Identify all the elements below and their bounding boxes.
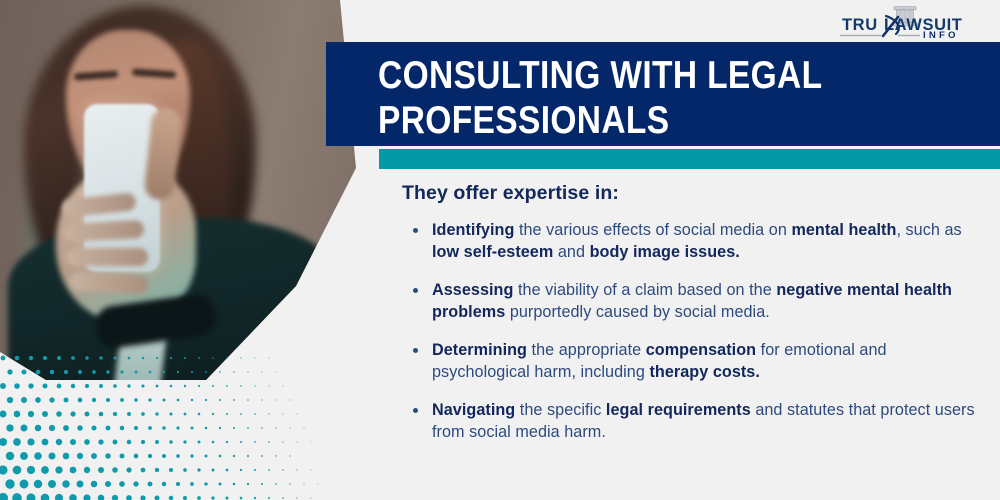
halftone-dot: [296, 441, 297, 442]
halftone-dot: [21, 425, 28, 432]
halftone-dot: [69, 494, 77, 500]
halftone-dot: [155, 412, 158, 415]
halftone-dot: [162, 454, 166, 458]
halftone-dot: [134, 398, 138, 402]
halftone-dot: [162, 482, 166, 486]
halftone-dot: [261, 427, 263, 429]
halftone-dot: [112, 467, 118, 473]
halftone-dot: [240, 413, 242, 415]
halftone-dot: [98, 495, 105, 500]
halftone-dot: [48, 480, 56, 488]
halftone-dot: [41, 494, 50, 500]
halftone-dot: [247, 371, 248, 372]
halftone-dot: [126, 467, 131, 472]
halftone-dot: [261, 399, 262, 400]
halftone-dot: [57, 384, 62, 389]
halftone-dot: [127, 384, 130, 387]
halftone-dot: [127, 412, 131, 416]
halftone-dot: [120, 398, 124, 402]
halftone-dot: [0, 411, 7, 418]
halftone-dot: [22, 370, 27, 375]
halftone-dot: [12, 493, 22, 500]
halftone-dot: [211, 496, 214, 499]
halftone-dot: [275, 427, 276, 428]
halftone-dot: [85, 384, 89, 388]
halftone-dot: [311, 442, 312, 443]
halftone-dot: [240, 357, 241, 358]
halftone-dot: [141, 440, 145, 444]
halftone-dot: [289, 455, 290, 456]
halftone-dot: [14, 383, 20, 389]
halftone-dot: [56, 411, 62, 417]
halftone-dot: [64, 398, 69, 403]
halftone-dot: [191, 399, 193, 401]
halftone-dot: [212, 413, 214, 415]
halftone-dot: [205, 399, 207, 401]
halftone-dot: [85, 412, 90, 417]
halftone-dot: [212, 469, 215, 472]
halftone-dot: [63, 425, 69, 431]
halftone-dot: [212, 441, 215, 444]
halftone-dot: [28, 411, 34, 417]
halftone-dot: [170, 385, 173, 388]
halftone-dot: [99, 384, 103, 388]
logo-word-info: INFO: [923, 30, 959, 41]
halftone-dot: [91, 481, 98, 488]
halftone-dot: [212, 385, 214, 387]
halftone-dot: [70, 467, 77, 474]
halftone-dot: [77, 453, 83, 459]
halftone-dot: [169, 496, 174, 500]
halftone-dot: [275, 455, 276, 456]
halftone-dot: [303, 483, 304, 484]
halftone-dot: [197, 468, 200, 471]
halftone-dot: [247, 399, 249, 401]
halftone-dot: [261, 455, 263, 457]
halftone-dot: [289, 427, 290, 428]
halftone-dot: [169, 440, 173, 444]
halftone-dot: [247, 427, 249, 429]
halftone-dot: [219, 399, 221, 401]
halftone-dot: [84, 467, 90, 473]
expertise-bullet-list: Identifying the various effects of socia…: [402, 220, 977, 443]
halftone-dot: [226, 497, 229, 500]
halftone-dot: [7, 369, 12, 374]
halftone-dot: [198, 413, 201, 416]
halftone-dot: [113, 440, 118, 445]
bullet-item-determining: Determining the appropriate compensation…: [402, 340, 977, 383]
halftone-dot: [169, 412, 172, 415]
halftone-dot: [6, 452, 14, 460]
halftone-dot: [141, 468, 146, 473]
halftone-dot: [14, 411, 21, 418]
halftone-dot: [34, 452, 42, 460]
halftone-dot: [254, 497, 256, 499]
halftone-dot: [205, 455, 208, 458]
halftone-dot: [169, 468, 173, 472]
halftone-dot: [5, 479, 14, 488]
halftone-dot: [304, 428, 305, 429]
halftone-dot: [155, 468, 159, 472]
halftone-dot: [148, 398, 151, 401]
halftone-dot: [1, 356, 6, 361]
halftone-dot: [177, 399, 180, 402]
halftone-dot: [27, 466, 35, 474]
halftone-dot: [254, 413, 256, 415]
halftone-dot: [21, 397, 27, 403]
halftone-dot: [318, 484, 319, 485]
halftone-dot: [13, 466, 22, 475]
halftone-dot: [42, 383, 47, 388]
halftone-dot: [13, 438, 21, 446]
photo-background: [0, 0, 360, 390]
halftone-dot: [84, 439, 90, 445]
halftone-dot: [20, 480, 29, 489]
halftone-dot: [190, 454, 193, 457]
halftone-dot: [55, 494, 63, 500]
halftone-dot: [134, 426, 138, 430]
halftone-dot: [49, 425, 55, 431]
halftone-dot: [0, 493, 8, 500]
halftone-dot: [219, 371, 221, 373]
halftone-dot: [106, 398, 110, 402]
halftone-dot: [296, 497, 297, 498]
halftone-dot: [105, 481, 111, 487]
halftone-dot: [233, 427, 235, 429]
halftone-dot: [6, 424, 13, 431]
halftone-dot: [247, 483, 249, 485]
halftone-dot: [0, 465, 8, 474]
halftone-dot: [191, 427, 194, 430]
halftone-dot: [20, 452, 28, 460]
halftone-dot: [183, 440, 186, 443]
halftone-dot: [41, 466, 49, 474]
halftone-dot: [148, 454, 152, 458]
bullet-item-identifying: Identifying the various effects of socia…: [402, 220, 977, 263]
halftone-dot: [70, 411, 75, 416]
logo-word-tru: TRU: [842, 16, 878, 34]
slide-canvas: TRU LAWSUIT INFO CONSULTING WITH LEGAL P…: [0, 0, 1000, 500]
halftone-dot: [219, 483, 222, 486]
halftone-dot: [219, 427, 221, 429]
halftone-dot: [127, 440, 132, 445]
halftone-dot: [276, 372, 277, 373]
halftone-dot: [226, 385, 228, 387]
halftone-dot: [268, 441, 270, 443]
halftone-dot: [83, 494, 90, 500]
halftone-dot: [184, 413, 187, 416]
halftone-dot: [99, 412, 104, 417]
halftone-dot: [289, 483, 290, 484]
halftone-dot: [282, 469, 283, 470]
halftone-dot: [197, 496, 201, 500]
halftone-dot: [70, 439, 76, 445]
halftone-dot: [233, 371, 234, 372]
halftone-dot: [240, 497, 243, 500]
halftone-dot: [7, 397, 13, 403]
halftone-dot: [0, 438, 7, 446]
halftone-dot: [35, 397, 41, 403]
halftone-dot: [240, 441, 242, 443]
halftone-dot: [205, 427, 208, 430]
halftone-dot: [275, 483, 277, 485]
halftone-dot: [155, 496, 160, 500]
halftone-dot: [198, 385, 200, 387]
halftone-dot: [34, 480, 42, 488]
bullet-item-navigating: Navigating the specific legal requiremen…: [402, 400, 977, 443]
halftone-dot: [311, 470, 312, 471]
halftone-dot: [148, 426, 152, 430]
halftone-dot: [226, 441, 228, 443]
halftone-dot: [254, 385, 255, 386]
halftone-dot: [268, 469, 270, 471]
halftone-dot: [269, 358, 270, 359]
halftone-dot: [76, 480, 83, 487]
halftone-dot: [254, 357, 255, 358]
halftone-dot: [156, 385, 159, 388]
halftone-dot: [226, 413, 228, 415]
halftone-dot: [63, 453, 70, 460]
halftone-dot: [62, 480, 69, 487]
halftone-dot: [282, 497, 284, 499]
halftone-dot: [290, 400, 291, 401]
halftone-dot: [283, 386, 284, 387]
halftone-dot: [91, 425, 96, 430]
halftone-dot: [27, 438, 34, 445]
halftone-dot: [296, 469, 297, 470]
halftone-dot: [268, 413, 269, 414]
photo-finger: [66, 248, 148, 266]
halftone-dot: [133, 481, 138, 486]
halftone-dot: [98, 439, 103, 444]
halftone-dot: [120, 426, 124, 430]
halftone-dot: [183, 496, 187, 500]
halftone-dot: [28, 383, 33, 388]
halftone-dot: [112, 495, 118, 500]
halftone-dot: [26, 493, 35, 500]
halftone-dot: [233, 455, 235, 457]
halftone-dot: [240, 385, 242, 387]
halftone-dot: [254, 469, 256, 471]
halftone-dot: [247, 455, 249, 457]
halftone-dot: [35, 425, 42, 432]
woman-with-phone-photo: [0, 0, 360, 390]
halftone-dot: [106, 426, 111, 431]
halftone-dot: [176, 426, 179, 429]
halftone-dot: [310, 497, 311, 498]
bullet-item-assessing: Assessing the viability of a claim based…: [402, 280, 977, 323]
halftone-dot: [92, 398, 96, 402]
halftone-dot: [91, 453, 97, 459]
halftone-dot: [233, 399, 235, 401]
halftone-dot: [55, 466, 62, 473]
title-banner: CONSULTING WITH LEGAL PROFESSIONALS: [326, 42, 1000, 146]
halftone-dot: [119, 481, 125, 487]
halftone-dot: [113, 412, 117, 416]
halftone-dot: [176, 454, 180, 458]
halftone-dot: [162, 426, 165, 429]
halftone-dot: [71, 384, 75, 388]
halftone-dot: [254, 441, 256, 443]
halftone-dot: [56, 439, 62, 445]
halftone-dot: [148, 482, 153, 487]
tru-lawsuit-info-logo[interactable]: TRU LAWSUIT INFO: [834, 4, 986, 44]
halftone-dot: [78, 398, 83, 403]
halftone-dot: [141, 384, 144, 387]
halftone-dot: [42, 411, 48, 417]
halftone-dot: [226, 469, 229, 472]
halftone-dot: [184, 385, 186, 387]
halftone-dot: [204, 482, 207, 485]
halftone-dot: [183, 468, 187, 472]
halftone-dot: [0, 383, 6, 389]
halftone-dot: [105, 453, 110, 458]
halftone-dot: [219, 455, 222, 458]
halftone-dot: [240, 469, 242, 471]
halftone-dot: [77, 425, 82, 430]
halftone-dot: [297, 414, 298, 415]
halftone-dot: [261, 483, 263, 485]
halftone-dot: [98, 467, 104, 473]
halftone-dot: [48, 452, 55, 459]
halftone-dot: [155, 440, 159, 444]
halftone-dot: [268, 497, 270, 499]
halftone-dot: [268, 385, 269, 386]
halftone-dot: [163, 399, 166, 402]
teal-accent-bar: [379, 149, 1000, 169]
halftone-dot: [141, 412, 145, 416]
halftone-dot: [190, 482, 194, 486]
halftone-dot: [42, 439, 49, 446]
halftone-dot: [176, 482, 180, 486]
halftone-dot: [233, 483, 236, 486]
lead-heading: They offer expertise in:: [402, 180, 977, 206]
halftone-dot: [198, 441, 201, 444]
content-area: They offer expertise in: Identifying the…: [402, 180, 977, 443]
halftone-dot: [126, 495, 132, 500]
halftone-dot: [140, 495, 145, 500]
halftone-dot: [119, 453, 124, 458]
halftone-dot: [282, 413, 283, 414]
halftone-dot: [49, 397, 54, 402]
halftone-dot: [113, 384, 117, 388]
halftone-dot: [304, 456, 305, 457]
page-title: CONSULTING WITH LEGAL PROFESSIONALS: [378, 53, 822, 143]
halftone-dot: [261, 371, 262, 372]
halftone-dot: [282, 441, 283, 442]
halftone-dot: [134, 454, 139, 459]
halftone-dot: [275, 399, 276, 400]
